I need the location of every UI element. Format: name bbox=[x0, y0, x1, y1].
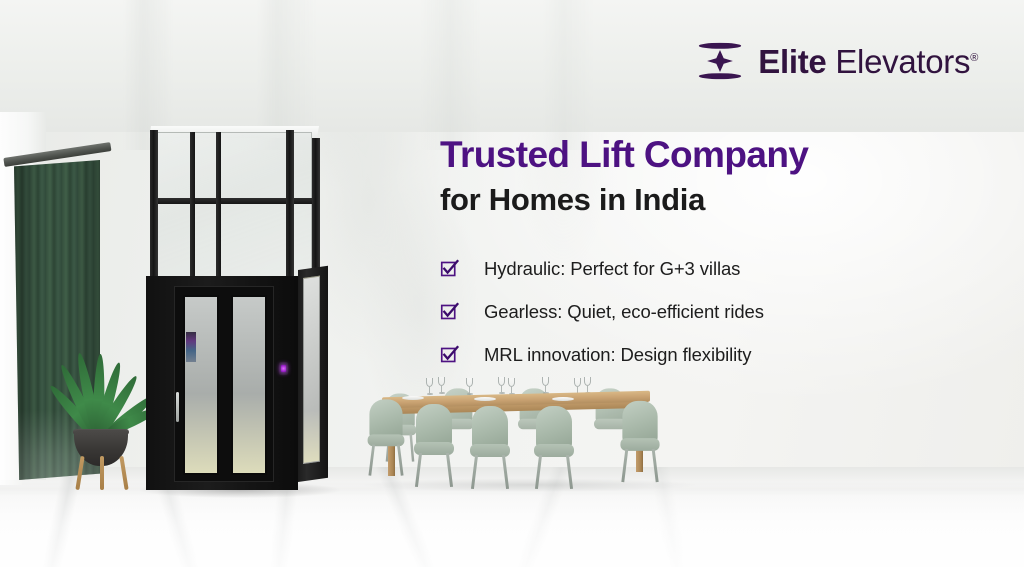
feature-item: Hydraulic: Perfect for G+3 villas bbox=[440, 258, 960, 280]
headline-secondary: for Homes in India bbox=[440, 180, 960, 220]
wine-glass bbox=[426, 378, 433, 395]
table-plate bbox=[552, 397, 574, 401]
brand-logo[interactable]: Elite Elevators® bbox=[697, 38, 978, 84]
hero-copy: Trusted Lift Company for Homes in India … bbox=[440, 133, 960, 387]
elevator-mullion bbox=[190, 132, 195, 280]
four-point-star-logo-icon bbox=[697, 38, 743, 84]
chair-leg bbox=[535, 455, 542, 489]
dining-chair bbox=[470, 406, 510, 490]
plant-stand-leg bbox=[75, 456, 84, 490]
registered-trademark-icon: ® bbox=[970, 52, 978, 64]
chair-leg bbox=[566, 455, 573, 489]
chair-leg bbox=[652, 449, 659, 482]
elevator-corner-post bbox=[286, 130, 294, 282]
elevator-mullion bbox=[216, 132, 221, 280]
dining-chair bbox=[620, 401, 659, 483]
chair-leg bbox=[621, 449, 628, 482]
chair-leg bbox=[368, 444, 375, 475]
dining-chair bbox=[368, 399, 405, 476]
hero-banner: Elite Elevators® Trusted Lift Company fo… bbox=[0, 0, 1024, 567]
checkbox-checked-icon bbox=[440, 345, 459, 364]
brand-name: Elite Elevators® bbox=[758, 45, 978, 78]
elevator-door-panel-right[interactable] bbox=[231, 295, 267, 475]
feature-list: Hydraulic: Perfect for G+3 villas Gearle… bbox=[440, 258, 960, 366]
dining-chair bbox=[534, 406, 574, 490]
chair-leg bbox=[415, 453, 422, 487]
home-elevator bbox=[146, 124, 328, 490]
feature-label: Gearless: Quiet, eco-efficient rides bbox=[484, 301, 764, 323]
plant-stand-leg bbox=[100, 456, 104, 490]
feature-label: MRL innovation: Design flexibility bbox=[484, 344, 751, 366]
headline-primary: Trusted Lift Company bbox=[440, 133, 960, 177]
checkbox-checked-icon bbox=[440, 259, 459, 278]
elevator-control-panel-display[interactable] bbox=[186, 332, 196, 362]
table-plate bbox=[402, 396, 424, 400]
elevator-door-panel-left[interactable] bbox=[183, 295, 219, 475]
brand-name-bold: Elite bbox=[758, 43, 826, 80]
chair-leg bbox=[471, 455, 478, 489]
elevator-side-glass bbox=[303, 276, 320, 464]
elevator-corner-post bbox=[312, 138, 320, 278]
plant-stand-leg bbox=[119, 456, 128, 490]
elevator-corner-post bbox=[150, 130, 158, 282]
brand-name-light: Elevators bbox=[835, 43, 970, 80]
dining-set bbox=[362, 372, 692, 494]
feature-label: Hydraulic: Perfect for G+3 villas bbox=[484, 258, 740, 280]
elevator-door-frame bbox=[174, 286, 274, 482]
chair-leg bbox=[502, 455, 509, 489]
table-plate bbox=[474, 397, 496, 401]
elevator-call-button[interactable] bbox=[279, 362, 288, 375]
elevator-door-handle[interactable] bbox=[176, 392, 179, 422]
checkbox-checked-icon bbox=[440, 302, 459, 321]
feature-item: MRL innovation: Design flexibility bbox=[440, 344, 960, 366]
chair-leg bbox=[397, 444, 404, 475]
dining-chair bbox=[414, 404, 454, 488]
chair-leg bbox=[446, 453, 453, 487]
feature-item: Gearless: Quiet, eco-efficient rides bbox=[440, 301, 960, 323]
